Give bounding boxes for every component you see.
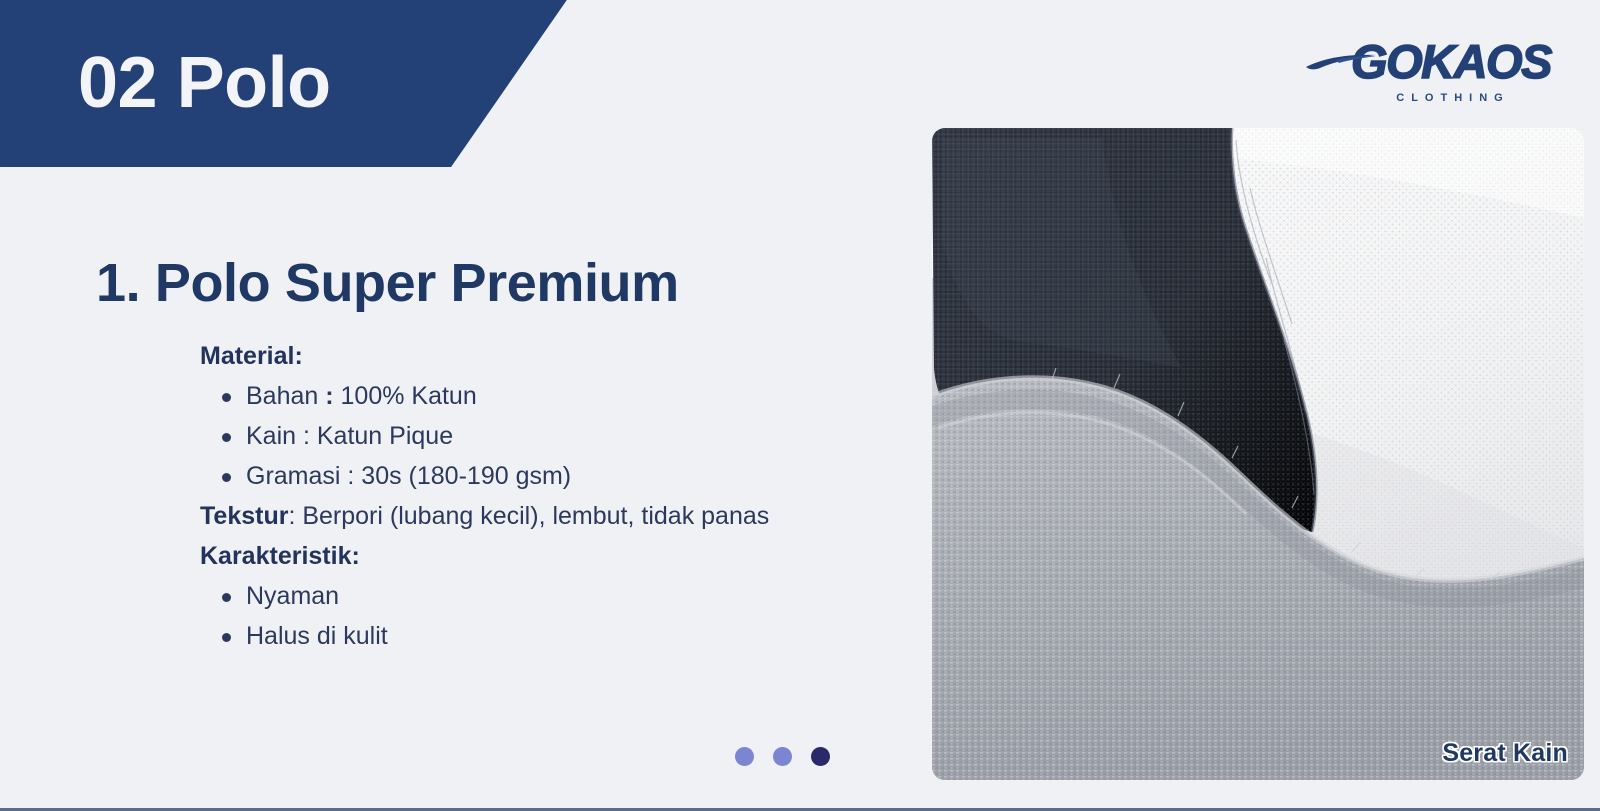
photo-caption: Serat Kain [1442,739,1568,768]
page-title: 1. Polo Super Premium [96,252,856,314]
list-item: Nyaman [200,576,856,616]
pagination-dots[interactable] [735,747,830,766]
slide: 02 Polo GOKAOS CLOTHING 1. Polo Super Pr… [0,0,1600,811]
bullet-text-bahan-value: 100% Katun [341,382,477,410]
list-item: Kain : Katun Pique [200,416,856,456]
bullet-text-bahan-name: Bahan [246,382,318,410]
spec-list: Material: Bahan : 100% Katun Kain : Katu… [96,336,856,656]
pagination-dot-2[interactable] [773,747,792,766]
list-item: Gramasi : 30s (180-190 gsm) [200,456,856,496]
tekstur-text: : Berpori (lubang kecil), lembut, tidak … [288,502,769,530]
karakteristik-bullets: Nyaman Halus di kulit [200,576,856,656]
material-bullets: Bahan : 100% Katun Kain : Katun Pique Gr… [200,376,856,496]
fabric-photo [932,128,1584,780]
pagination-dot-1[interactable] [735,747,754,766]
karakteristik-label: Karakteristik: [200,536,856,576]
material-label: Material: [200,336,856,376]
pagination-dot-3-active[interactable] [811,747,830,766]
swoosh-icon [1306,54,1378,72]
brand-logo: GOKAOS CLOTHING [1302,38,1572,104]
content-column: 1. Polo Super Premium Material: Bahan : … [96,252,856,656]
tekstur-label: Tekstur [200,502,288,530]
header-banner: 02 Polo [0,0,571,167]
fabric-photo-card: Serat Kain [932,128,1584,780]
tekstur-line: Tekstur: Berpori (lubang kecil), lembut,… [200,496,856,536]
banner-title: 02 Polo [78,47,331,119]
list-item: Halus di kulit [200,616,856,656]
bullet-separator: : [318,382,340,410]
brand-tagline: CLOTHING [1302,92,1572,104]
list-item: Bahan : 100% Katun [200,376,856,416]
